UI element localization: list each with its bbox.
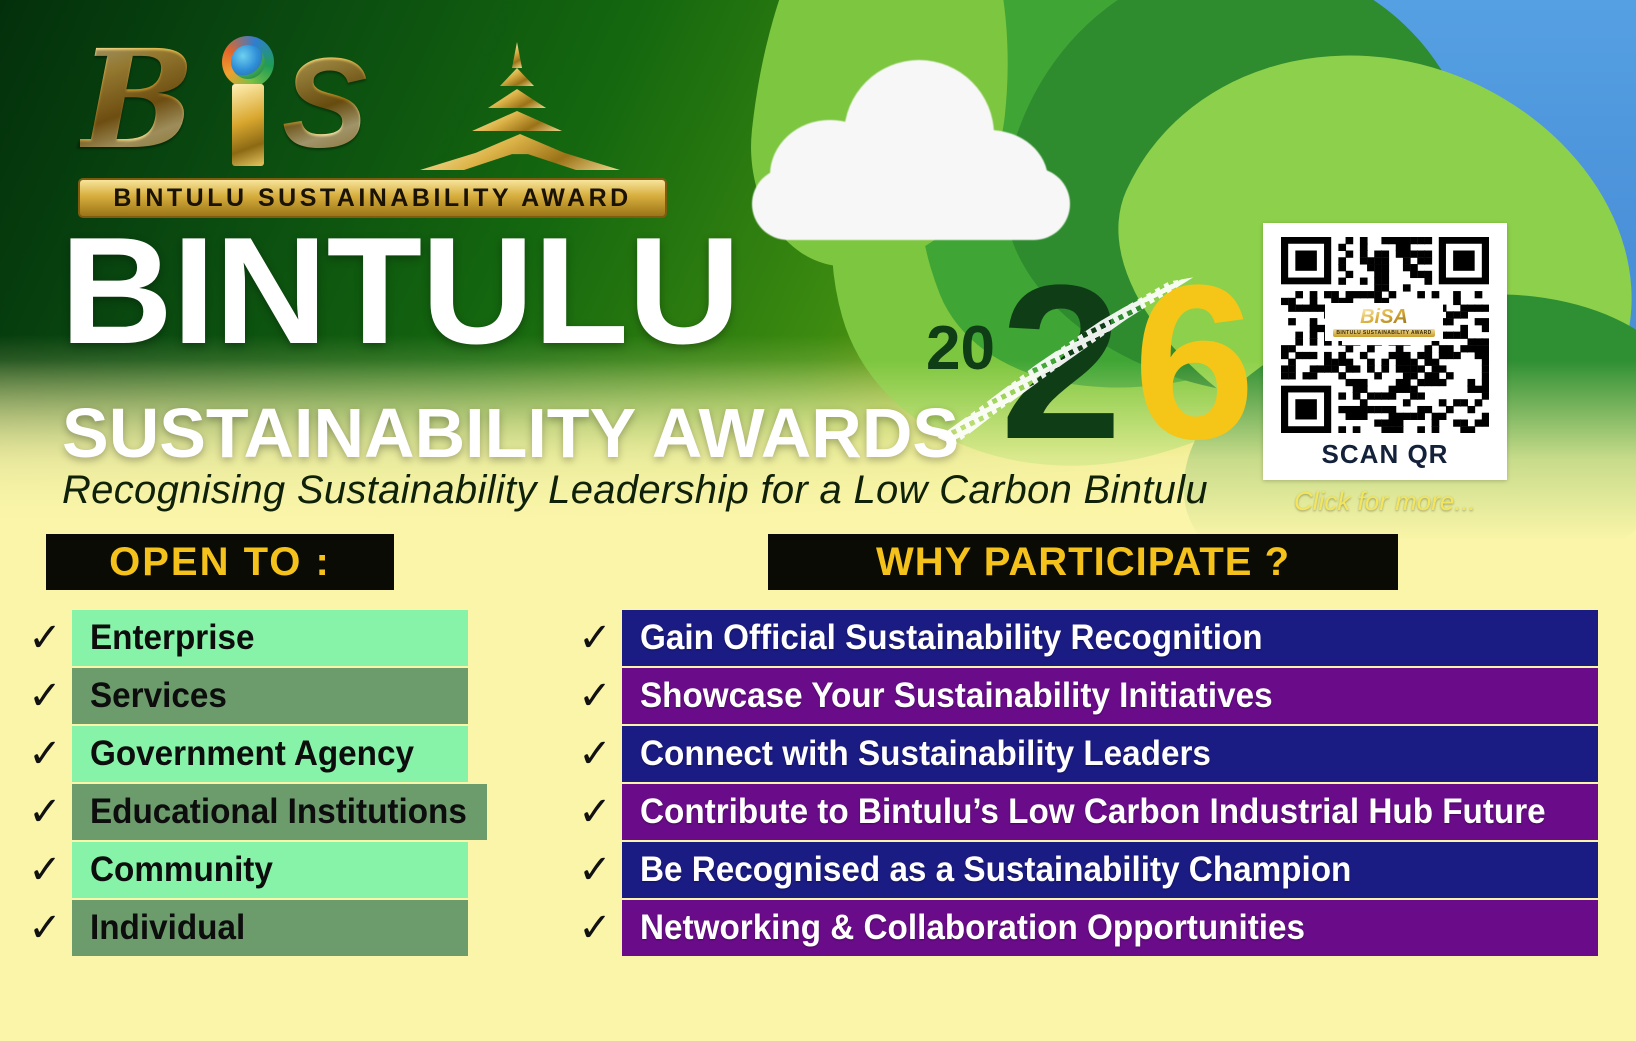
list-item[interactable]: ✓ Gain Official Sustainability Recogniti… (568, 610, 1598, 666)
page-title: BINTULU (60, 222, 740, 362)
list-item-label: Government Agency (90, 734, 414, 774)
check-icon: ✓ (18, 618, 72, 658)
list-item-pill: Individual (72, 900, 468, 956)
list-item[interactable]: ✓ Services (18, 668, 468, 724)
year-lockup: 20 2 6 (918, 240, 1218, 470)
list-item[interactable]: ✓ Educational Institutions (18, 784, 468, 840)
qr-embedded-logo-sub: BINTULU SUSTAINABILITY AWARD (1333, 329, 1434, 337)
list-item[interactable]: ✓ Be Recognised as a Sustainability Cham… (568, 842, 1598, 898)
list-item[interactable]: ✓ Individual (18, 900, 468, 956)
list-item-label: Community (90, 850, 273, 890)
list-item[interactable]: ✓ Showcase Your Sustainability Initiativ… (568, 668, 1598, 724)
list-item-label: Contribute to Bintulu’s Low Carbon Indus… (640, 792, 1546, 832)
year-digit-6: 6 (1133, 252, 1255, 472)
check-icon: ✓ (568, 618, 622, 658)
poster-root: B S BINTULU SUSTAINABILITY AWARD BINTULU… (0, 0, 1636, 1041)
check-icon: ✓ (568, 734, 622, 774)
year-prefix: 20 (926, 318, 995, 380)
logo-letter-i-stem (232, 84, 264, 166)
list-item[interactable]: ✓ Networking & Collaboration Opportuniti… (568, 900, 1598, 956)
section-header-open-to-label: OPEN TO : (109, 540, 331, 585)
check-icon: ✓ (18, 792, 72, 832)
list-item[interactable]: ✓ Government Agency (18, 726, 468, 782)
list-item-label: Be Recognised as a Sustainability Champi… (640, 850, 1351, 890)
globe-icon (222, 36, 274, 88)
list-item-pill: Networking & Collaboration Opportunities (622, 900, 1598, 956)
bisa-logo[interactable]: B S BINTULU SUSTAINABILITY AWARD (70, 28, 670, 213)
list-item-pill: Gain Official Sustainability Recognition (622, 610, 1598, 666)
list-item[interactable]: ✓ Community (18, 842, 468, 898)
list-item-pill: Educational Institutions (72, 784, 487, 840)
list-item-pill: Services (72, 668, 468, 724)
list-item-pill: Connect with Sustainability Leaders (622, 726, 1598, 782)
pyramid-tower-icon (408, 42, 638, 170)
list-item-label: Gain Official Sustainability Recognition (640, 618, 1263, 658)
list-item[interactable]: ✓ Contribute to Bintulu’s Low Carbon Ind… (568, 784, 1598, 840)
why-participate-list: ✓ Gain Official Sustainability Recogniti… (568, 610, 1598, 958)
list-item-label: Showcase Your Sustainability Initiatives (640, 676, 1273, 716)
check-icon: ✓ (18, 734, 72, 774)
list-item-pill: Contribute to Bintulu’s Low Carbon Indus… (622, 784, 1598, 840)
list-item-pill: Community (72, 842, 468, 898)
check-icon: ✓ (18, 908, 72, 948)
list-item-label: Services (90, 676, 227, 716)
qr-embedded-logo-text: BiSA (1360, 307, 1408, 327)
list-item-label: Individual (90, 908, 245, 948)
qr-caption: SCAN QR (1263, 439, 1507, 470)
list-item-label: Networking & Collaboration Opportunities (640, 908, 1305, 948)
section-header-why-participate-label: WHY PARTICIPATE ? (876, 540, 1290, 585)
section-header-why-participate: WHY PARTICIPATE ? (768, 534, 1398, 590)
section-header-open-to: OPEN TO : (46, 534, 394, 590)
page-subtitle: SUSTAINABILITY AWARDS (62, 398, 959, 468)
logo-letter-b: B (80, 32, 195, 168)
check-icon: ✓ (18, 850, 72, 890)
list-item-pill: Showcase Your Sustainability Initiatives (622, 668, 1598, 724)
logo-letter-s: S (282, 40, 367, 168)
check-icon: ✓ (18, 676, 72, 716)
check-icon: ✓ (568, 850, 622, 890)
cloud-icon (752, 60, 1082, 245)
list-item-pill: Be Recognised as a Sustainability Champi… (622, 842, 1598, 898)
qr-code-card[interactable]: BiSA BINTULU SUSTAINABILITY AWARD SCAN Q… (1263, 223, 1507, 480)
open-to-list: ✓ Enterprise ✓ Services ✓ Government Age… (18, 610, 468, 958)
check-icon: ✓ (568, 676, 622, 716)
list-item-label: Connect with Sustainability Leaders (640, 734, 1211, 774)
qr-click-for-more[interactable]: Click for more... (1263, 486, 1507, 517)
check-icon: ✓ (568, 792, 622, 832)
list-item[interactable]: ✓ Enterprise (18, 610, 468, 666)
check-icon: ✓ (568, 908, 622, 948)
list-item-pill: Government Agency (72, 726, 468, 782)
list-item[interactable]: ✓ Connect with Sustainability Leaders (568, 726, 1598, 782)
list-item-label: Educational Institutions (90, 792, 467, 832)
list-item-pill: Enterprise (72, 610, 468, 666)
qr-embedded-logo: BiSA BINTULU SUSTAINABILITY AWARD (1325, 303, 1443, 341)
bisa-logo-mark: B S (70, 28, 670, 168)
list-item-label: Enterprise (90, 618, 254, 658)
